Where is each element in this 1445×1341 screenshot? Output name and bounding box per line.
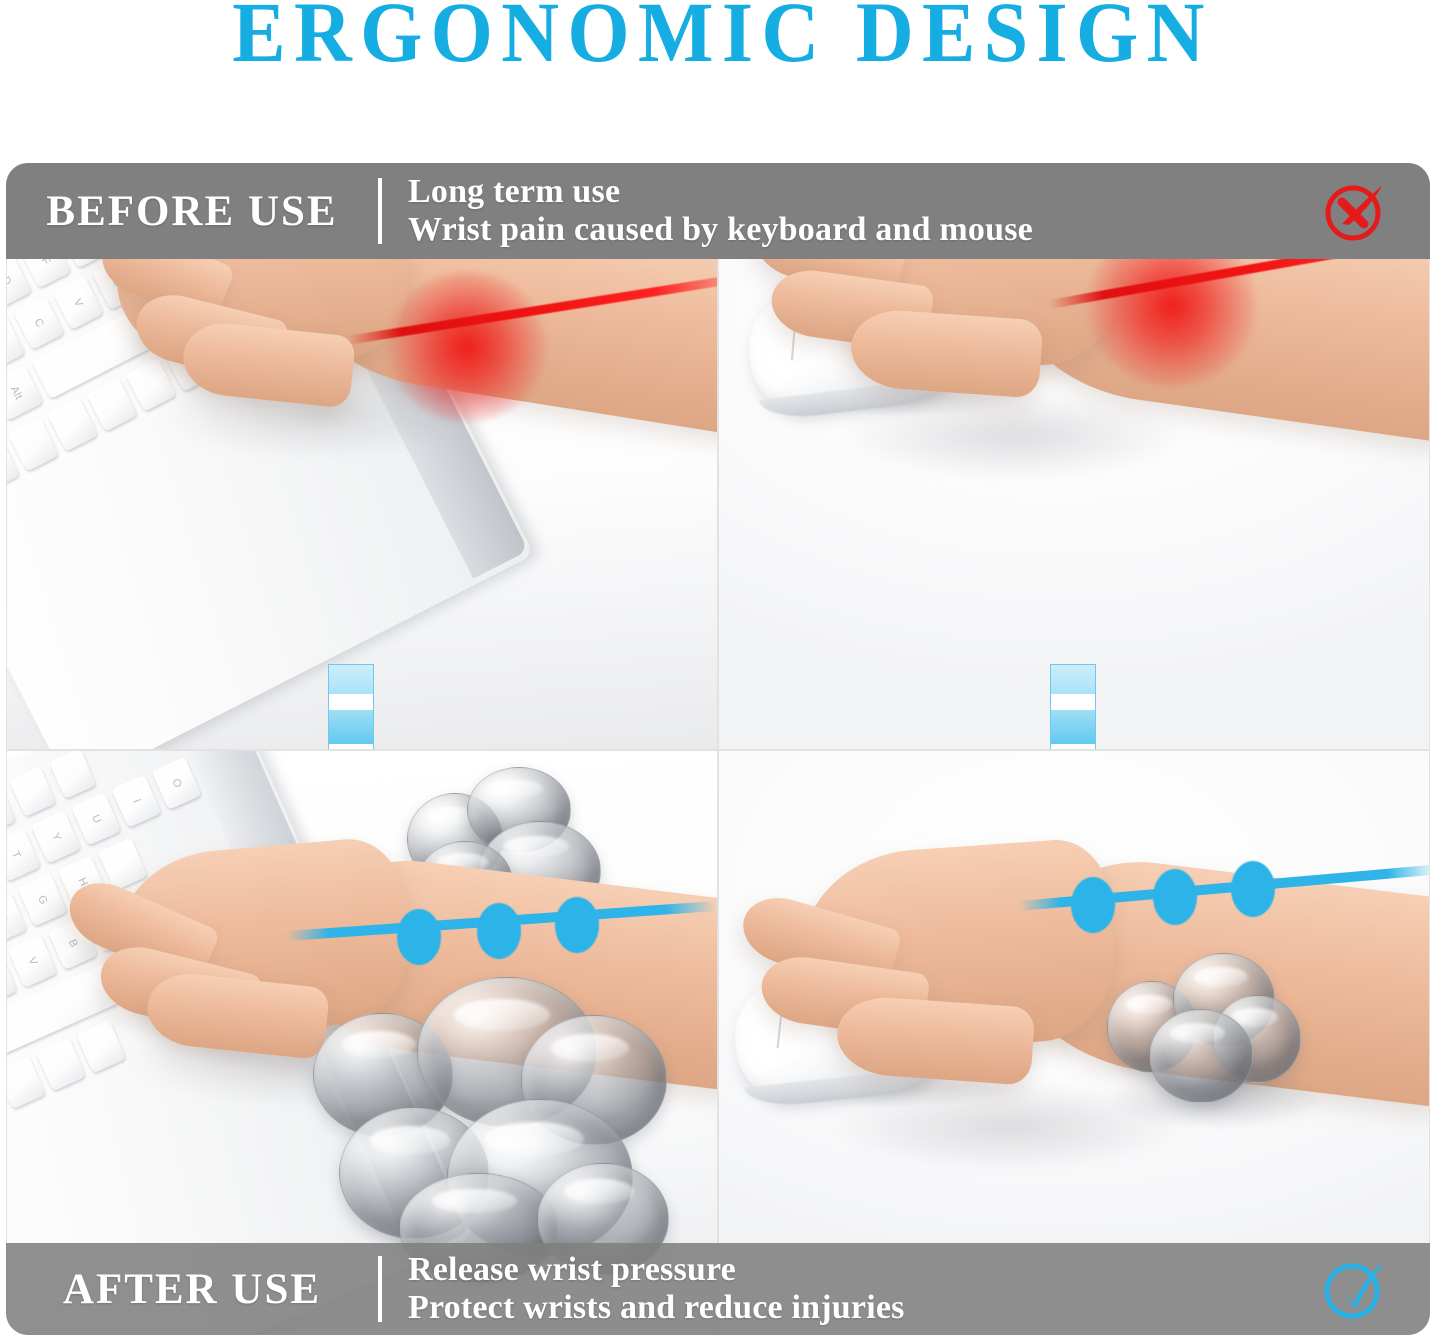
relief-dot [1231,861,1275,917]
down-arrow-mouse [1029,664,1117,750]
cross-circle-mark [1280,175,1430,247]
banner-line-2: Protect wrists and reduce injuries [408,1289,1280,1327]
keyboard-wrist-rest-lower [307,967,667,1267]
page-title: ERGONOMIC DESIGN [51,0,1395,74]
down-arrow-keyboard [307,664,395,750]
hand-shadow [839,390,1189,480]
relief-dot [397,909,441,965]
banner-line-1: Release wrist pressure [408,1251,1280,1289]
panel-grid: Esc F1 F2 F3 Tab Q W E R T [6,163,1430,1335]
check-circle-mark [1280,1253,1430,1325]
arrow-gap [328,694,374,710]
banner-text-before: Long term use Wrist pain caused by keybo… [408,173,1280,249]
banner-line-1: Long term use [408,173,1280,211]
arrow-segment [1050,710,1096,744]
product-infographic: ERGONOMIC DESIGN Esc F1 F2 F3 [0,0,1445,1341]
arrow-gap [1050,694,1096,710]
banner-text-after: Release wrist pressure Protect wrists an… [408,1251,1280,1327]
banner-before-use: BEFORE USE Long term use Wrist pain caus… [6,163,1430,259]
arrow-segment [328,710,374,744]
check-circle-icon [1319,1253,1391,1325]
banner-after-use: AFTER USE Release wrist pressure Protect… [6,1243,1430,1335]
banner-label-before: BEFORE USE [6,187,378,236]
relief-dot [477,903,521,959]
relief-dot [555,897,599,953]
mouse-wrist-rest [1105,947,1305,1107]
banner-label-after: AFTER USE [6,1265,378,1314]
banner-line-2: Wrist pain caused by keyboard and mouse [408,211,1280,249]
banner-divider [378,1256,382,1322]
arrow-segment [328,664,374,694]
banner-divider [378,178,382,244]
cross-circle-icon [1319,175,1391,247]
pain-glow [387,272,547,422]
arrow-segment [1050,664,1096,694]
relief-dot [1153,869,1197,925]
relief-dot [1071,877,1115,933]
gel-lobe [1149,1009,1253,1103]
